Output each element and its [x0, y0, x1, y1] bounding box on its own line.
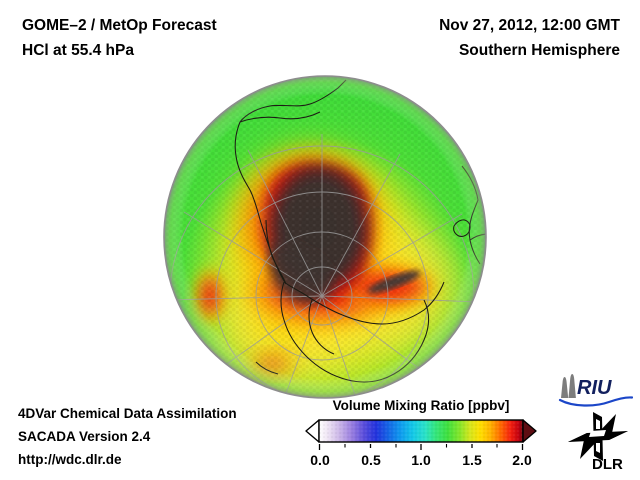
- header-title-line2: HCl at 55.4 hPa: [22, 38, 217, 63]
- footer-line-version: SACADA Version 2.4: [18, 425, 237, 448]
- footer-line-method: 4DVar Chemical Data Assimilation: [18, 402, 237, 425]
- header-datetime: Nov 27, 2012, 12:00 GMT: [439, 13, 620, 38]
- header-region: Southern Hemisphere: [439, 38, 620, 63]
- header-title-line1: GOME–2 / MetOp Forecast: [22, 13, 217, 38]
- dlr-logo: DLR: [562, 409, 634, 471]
- footer-line-url[interactable]: http://wdc.dlr.de: [18, 448, 237, 471]
- riu-wordmark: RIU: [577, 377, 612, 399]
- riu-towers-icon: [561, 374, 576, 398]
- colorbar-dither: [319, 420, 523, 442]
- colorbar-tick-3: 1.5: [462, 452, 481, 468]
- header-meta-block: Nov 27, 2012, 12:00 GMT Southern Hemisph…: [439, 13, 620, 63]
- header-title-block: GOME–2 / MetOp Forecast HCl at 55.4 hPa: [22, 13, 217, 63]
- colorbar-swatch: [305, 418, 537, 444]
- globe-map: [162, 74, 488, 400]
- colorbar-tick-4: 2.0: [512, 452, 531, 468]
- colorbar-tick-1: 0.5: [361, 452, 380, 468]
- colorbar: Volume Mixing Ratio [ppbv]: [305, 398, 537, 472]
- colorbar-tick-0: 0.0: [310, 452, 329, 468]
- colorbar-ticks: [305, 444, 537, 451]
- dlr-star-icon: [568, 412, 628, 461]
- globe-limb-shade: [164, 76, 486, 398]
- colorbar-tick-2: 1.0: [411, 452, 430, 468]
- globe-svg: [162, 74, 488, 400]
- footer-text-block: 4DVar Chemical Data Assimilation SACADA …: [18, 402, 237, 471]
- colorbar-tick-labels: 0.0 0.5 1.0 1.5 2.0: [305, 452, 537, 472]
- colorbar-extend-high-arrow: [523, 420, 536, 442]
- colorbar-extend-low-arrow: [306, 420, 319, 442]
- dlr-star-facets: [589, 419, 606, 453]
- dlr-wordmark: DLR: [592, 456, 623, 471]
- colorbar-title: Volume Mixing Ratio [ppbv]: [305, 398, 537, 413]
- riu-logo: RIU: [557, 373, 633, 407]
